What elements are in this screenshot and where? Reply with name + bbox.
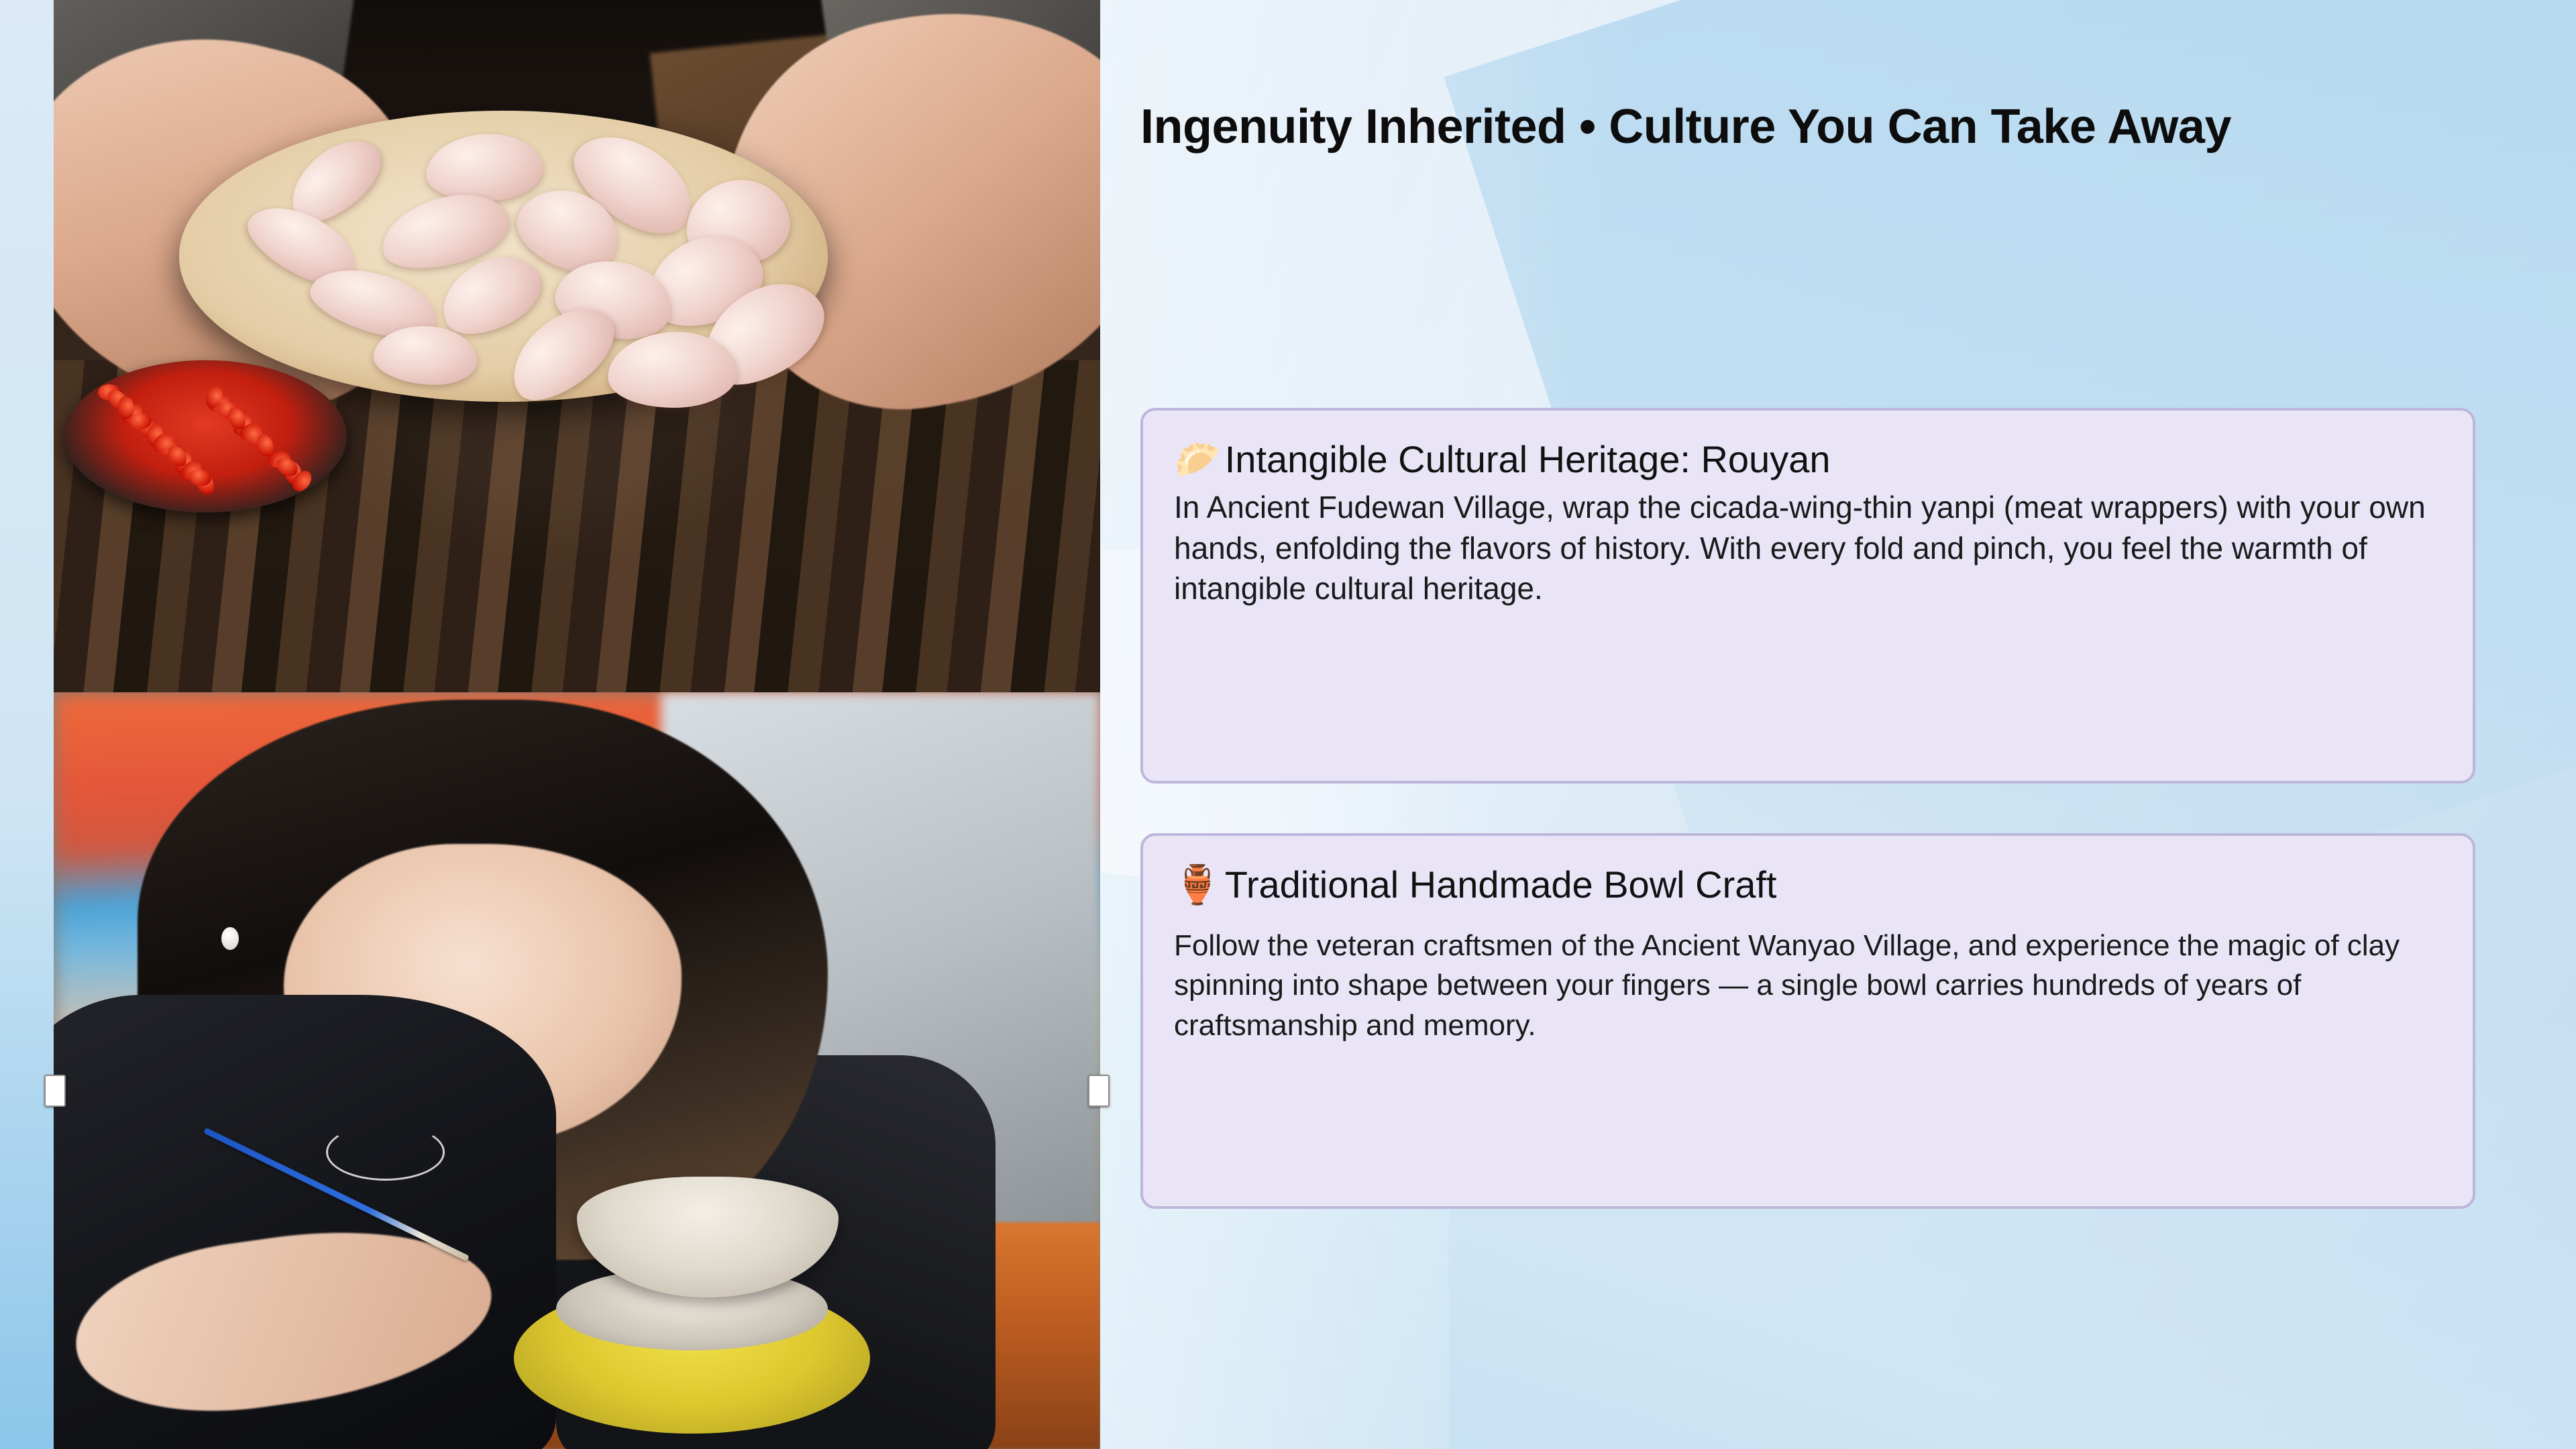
photo-detail-wooden-plate: [179, 111, 828, 401]
photo-stack-object[interactable]: [54, 0, 1100, 1449]
card-title: Intangible Cultural Heritage: Rouyan: [1225, 436, 1831, 483]
photo-detail-chili-bowl: [64, 360, 347, 513]
card-handmade-bowl[interactable]: 🏺 Traditional Handmade Bowl Craft Follow…: [1140, 833, 2475, 1209]
dumpling-icon: 🥟: [1174, 441, 1221, 478]
card-body-text: In Ancient Fudewan Village, wrap the cic…: [1174, 487, 2442, 609]
photo-pottery-image: [54, 692, 1100, 1449]
card-heading: 🏺 Traditional Handmade Bowl Craft: [1174, 861, 2442, 908]
selection-handle-right[interactable]: [1088, 1075, 1110, 1107]
slide-canvas: Ingenuity Inherited • Culture You Can Ta…: [0, 0, 2576, 1449]
selection-handle-left[interactable]: [44, 1075, 66, 1107]
photo-detail-necklace: [326, 1124, 445, 1181]
photo-pottery-painting[interactable]: [54, 692, 1100, 1449]
card-title: Traditional Handmade Bowl Craft: [1225, 861, 1777, 908]
photo-dumplings[interactable]: [54, 0, 1100, 692]
card-heading: 🥟 Intangible Cultural Heritage: Rouyan: [1174, 436, 2442, 483]
amphora-icon: 🏺: [1174, 866, 1221, 904]
photo-detail-earring: [221, 927, 239, 950]
content-column: Ingenuity Inherited • Culture You Can Ta…: [1140, 0, 2482, 1449]
card-intangible-heritage[interactable]: 🥟 Intangible Cultural Heritage: Rouyan I…: [1140, 408, 2475, 784]
card-body-text: Follow the veteran craftsmen of the Anci…: [1174, 926, 2442, 1045]
photo-detail-dumpling: [424, 131, 544, 204]
slide-title: Ingenuity Inherited • Culture You Can Ta…: [1140, 101, 2482, 154]
photo-dumplings-image: [54, 0, 1100, 692]
